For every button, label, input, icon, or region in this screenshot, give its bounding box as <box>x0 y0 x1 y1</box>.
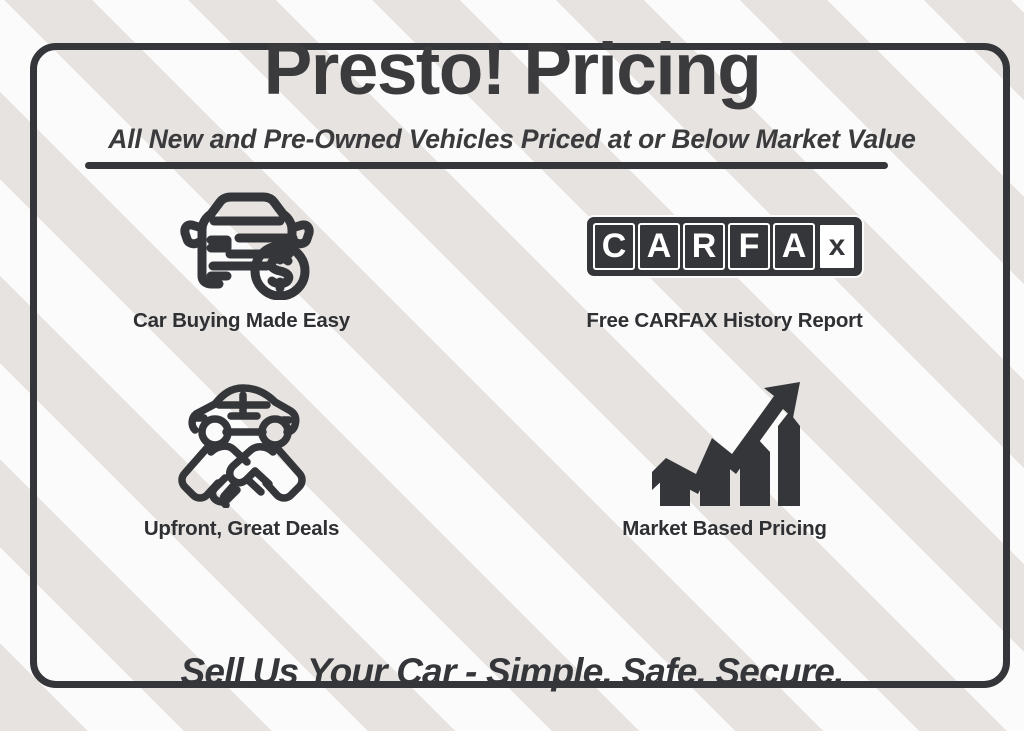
page-title: Presto! Pricing <box>0 33 1024 106</box>
car-with-dollar-coin-icon <box>167 192 317 300</box>
carfax-letter-a2: A <box>773 223 815 270</box>
feature-item-market-pricing: Market Based Pricing <box>483 368 966 548</box>
carfax-letter-r: R <box>683 223 725 270</box>
carfax-letter-c: C <box>593 223 635 270</box>
carfax-letter-a1: A <box>638 223 680 270</box>
car-handshake-icon <box>171 378 313 508</box>
growth-bar-chart-arrow-icon <box>650 378 800 508</box>
feature-item-car-buying: Car Buying Made Easy <box>0 188 483 368</box>
carfax-letter-x: x <box>818 223 856 270</box>
feature-item-carfax: C A R F A x Free CARFAX History Report <box>483 188 966 368</box>
feature-label: Market Based Pricing <box>622 517 827 541</box>
feature-label: Free CARFAX History Report <box>586 309 862 333</box>
carfax-logo-icon: C A R F A x <box>587 192 862 300</box>
carfax-logo-boxes: C A R F A x <box>587 217 862 276</box>
promo-poster: Presto! Pricing All New and Pre-Owned Ve… <box>0 0 1024 731</box>
feature-grid: Car Buying Made Easy C A R F A x Free CA… <box>0 188 966 548</box>
feature-item-upfront-deals: Upfront, Great Deals <box>0 368 483 548</box>
tagline: Sell Us Your Car - Simple. Safe. Secure. <box>0 651 1024 693</box>
horizontal-divider <box>85 162 888 169</box>
carfax-letter-f: F <box>728 223 770 270</box>
feature-label: Upfront, Great Deals <box>144 517 339 541</box>
feature-label: Car Buying Made Easy <box>133 309 350 333</box>
page-subtitle: All New and Pre-Owned Vehicles Priced at… <box>0 124 1024 155</box>
